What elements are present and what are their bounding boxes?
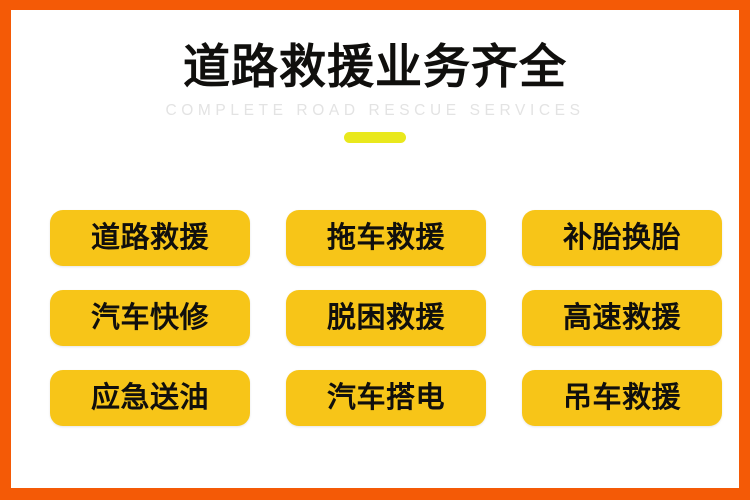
service-label: 拖车救援: [327, 224, 445, 253]
poster-canvas: 道路救援业务齐全 COMPLETE ROAD RESCUE SERVICES 道…: [11, 10, 739, 488]
frame-border-right: [739, 0, 750, 500]
service-button-quick-car-repair[interactable]: 汽车快修: [50, 290, 250, 346]
service-label: 道路救援: [91, 224, 209, 253]
poster-header: 道路救援业务齐全 COMPLETE ROAD RESCUE SERVICES: [11, 42, 739, 143]
service-button-road-rescue[interactable]: 道路救援: [50, 210, 250, 266]
frame-border-left: [0, 0, 11, 500]
frame-border-bottom: [0, 488, 750, 500]
service-label: 汽车快修: [91, 304, 209, 333]
services-grid: 道路救援 拖车救援 补胎换胎 汽车快修 脱困救援 高速救援 应急送油 汽车搭电: [40, 210, 732, 426]
service-label: 脱困救援: [327, 304, 445, 333]
road-rescue-services-poster: 道路救援业务齐全 COMPLETE ROAD RESCUE SERVICES 道…: [0, 0, 750, 500]
service-label: 汽车搭电: [327, 384, 445, 413]
service-label: 补胎换胎: [563, 224, 681, 253]
service-label: 吊车救援: [563, 384, 681, 413]
frame-border-top: [0, 0, 750, 10]
service-label: 高速救援: [563, 304, 681, 333]
accent-bar-container: [11, 132, 739, 143]
accent-underline-bar: [344, 132, 406, 143]
service-button-crane-rescue[interactable]: 吊车救援: [522, 370, 722, 426]
service-button-emergency-fuel-delivery[interactable]: 应急送油: [50, 370, 250, 426]
service-button-jump-start[interactable]: 汽车搭电: [286, 370, 486, 426]
service-button-tire-repair-replace[interactable]: 补胎换胎: [522, 210, 722, 266]
page-subtitle: COMPLETE ROAD RESCUE SERVICES: [11, 102, 739, 120]
page-title: 道路救援业务齐全: [11, 42, 739, 93]
service-label: 应急送油: [91, 384, 209, 413]
service-button-highway-rescue[interactable]: 高速救援: [522, 290, 722, 346]
service-button-tow-rescue[interactable]: 拖车救援: [286, 210, 486, 266]
service-button-extrication-rescue[interactable]: 脱困救援: [286, 290, 486, 346]
